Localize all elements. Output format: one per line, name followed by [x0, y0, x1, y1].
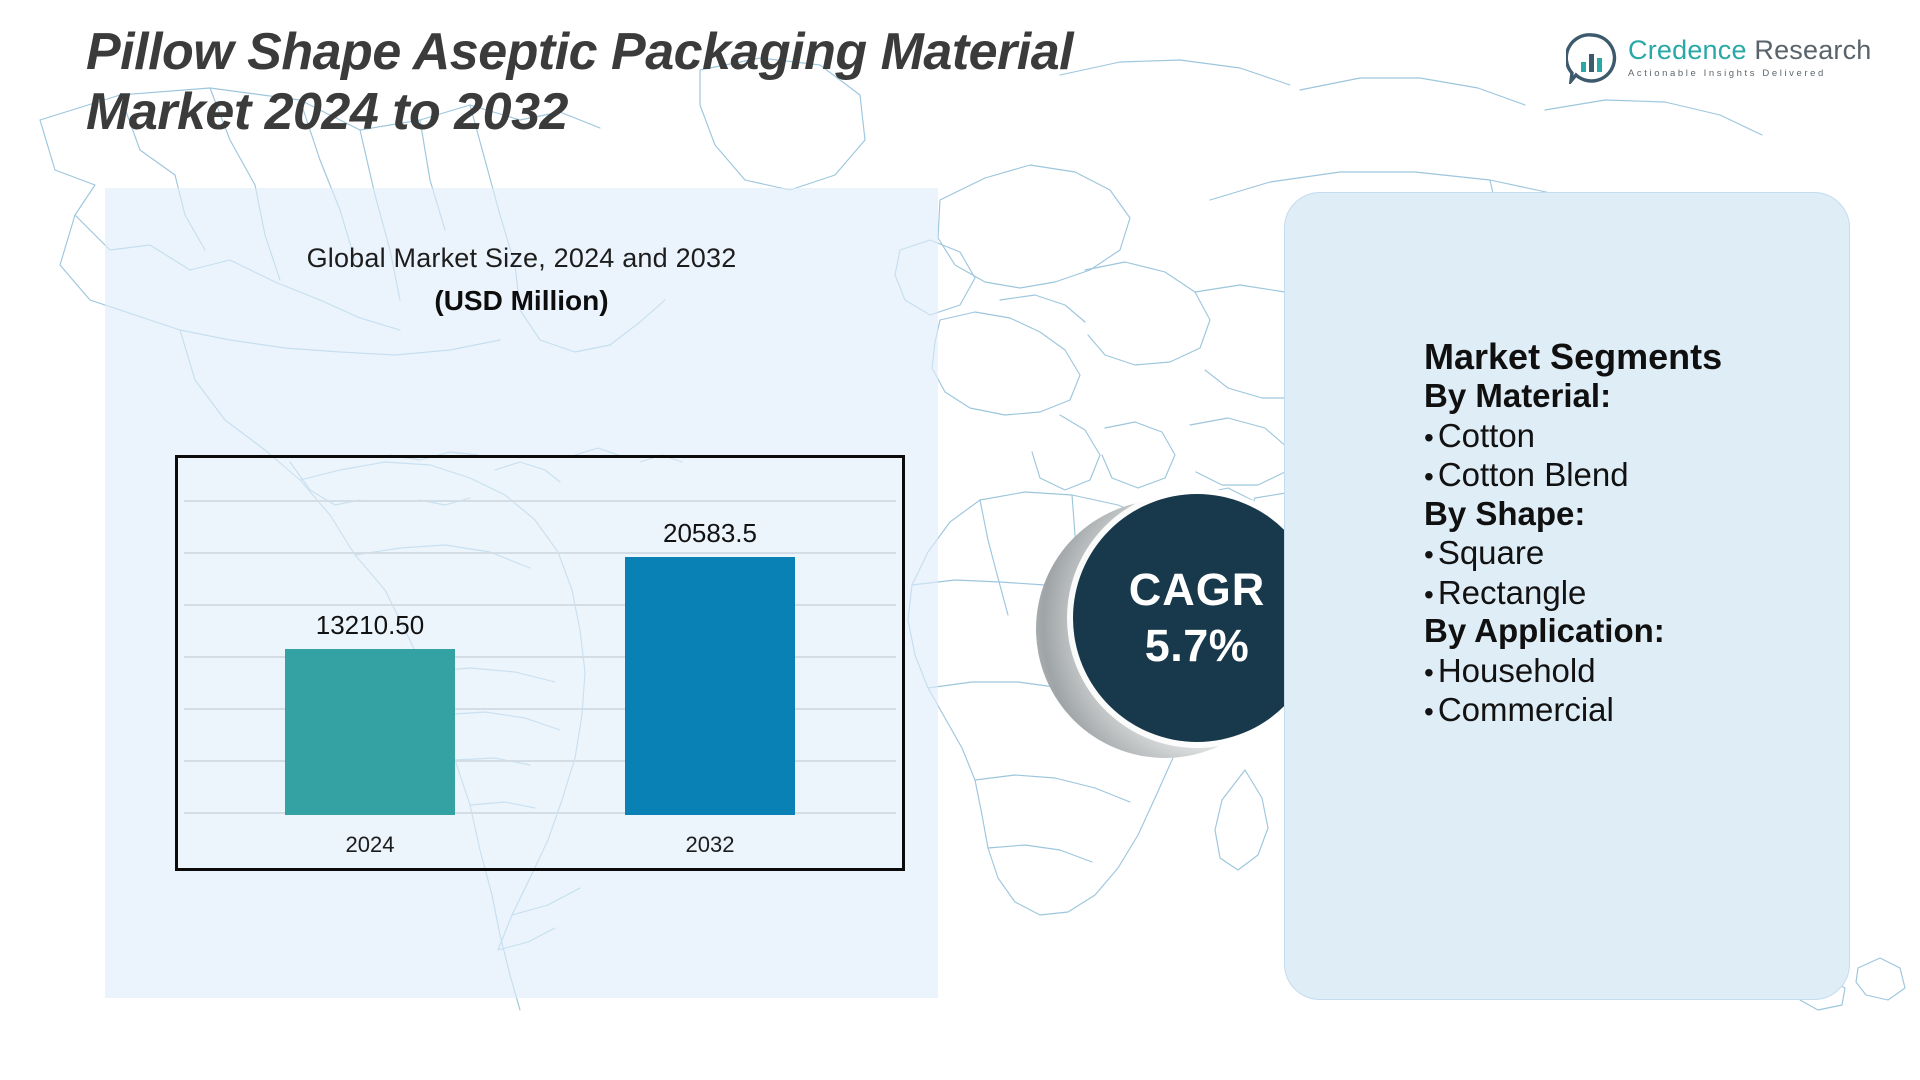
logo-wordmark: Credence Research	[1628, 37, 1872, 64]
bar-2024	[285, 649, 455, 815]
segment-item-label: Commercial	[1438, 690, 1614, 729]
axis-label-2024: 2024	[285, 832, 455, 858]
segment-item-cotton: • Cotton	[1424, 416, 1844, 455]
market-segments: Market Segments By Material: • Cotton • …	[1424, 336, 1844, 729]
bullet-icon: •	[1424, 424, 1434, 452]
bar-2032	[625, 557, 795, 815]
brand-logo[interactable]: Credence Research Actionable Insights De…	[1566, 32, 1872, 84]
logo-text: Credence Research Actionable Insights De…	[1628, 37, 1872, 79]
infographic-canvas: Pillow Shape Aseptic Packaging MaterialM…	[0, 0, 1920, 1080]
segment-item-rectangle: • Rectangle	[1424, 573, 1844, 612]
segment-item-label: Cotton	[1438, 416, 1535, 455]
segment-heading-material: By Material:	[1424, 377, 1844, 416]
bullet-icon: •	[1424, 541, 1434, 569]
axis-label-2032: 2032	[625, 832, 795, 858]
bar-value-label-2024: 13210.50	[285, 610, 455, 641]
segment-item-square: • Square	[1424, 533, 1844, 572]
segment-item-cotton-blend: • Cotton Blend	[1424, 455, 1844, 494]
segment-item-label: Cotton Blend	[1438, 455, 1629, 494]
segment-heading-application: By Application:	[1424, 612, 1844, 651]
segment-item-label: Square	[1438, 533, 1544, 572]
bullet-icon: •	[1424, 581, 1434, 609]
logo-tagline: Actionable Insights Delivered	[1628, 69, 1872, 79]
cagr-value: 5.7%	[1145, 620, 1250, 672]
chart-caption-line-1: Global Market Size, 2024 and 2032	[105, 243, 938, 274]
segments-title: Market Segments	[1424, 336, 1844, 377]
bullet-icon: •	[1424, 698, 1434, 726]
segment-heading-shape: By Shape:	[1424, 495, 1844, 534]
gridline	[184, 500, 896, 502]
segment-item-label: Household	[1438, 651, 1596, 690]
bullet-icon: •	[1424, 463, 1434, 491]
bar-value-label-2032: 20583.5	[625, 518, 795, 549]
page-title: Pillow Shape Aseptic Packaging MaterialM…	[86, 22, 1416, 143]
gridline	[184, 552, 896, 554]
circle-bar-chart-icon	[1566, 32, 1618, 84]
logo-word-credence: Credence	[1628, 35, 1747, 65]
bullet-icon: •	[1424, 659, 1434, 687]
title-line-1: Pillow Shape Aseptic Packaging Material	[86, 23, 1073, 81]
bar-chart-plot: 13210.50 2024 20583.5 2032	[175, 455, 905, 871]
segment-item-household: • Household	[1424, 651, 1844, 690]
logo-word-research: Research	[1747, 35, 1872, 65]
chart-caption-line-2: (USD Million)	[105, 285, 938, 317]
segment-item-commercial: • Commercial	[1424, 690, 1844, 729]
chart-caption: Global Market Size, 2024 and 2032 (USD M…	[105, 243, 938, 317]
segment-item-label: Rectangle	[1438, 573, 1587, 612]
title-line-2: Market 2024 to 2032	[86, 83, 568, 141]
cagr-label: CAGR	[1129, 564, 1266, 616]
